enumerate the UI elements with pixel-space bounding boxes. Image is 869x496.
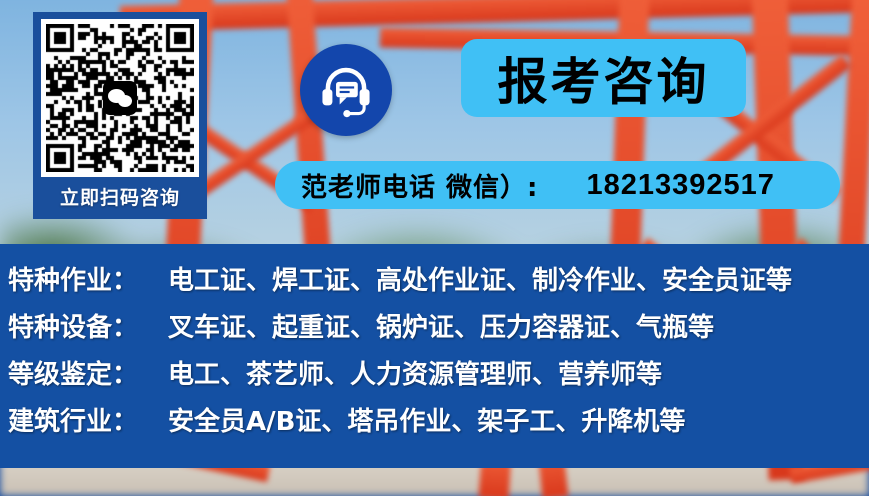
category-items: 电工证、焊工证、高处作业证、制冷作业、安全员证等 <box>168 260 792 297</box>
category-items: 电工、茶艺师、人力资源管理师、营养师等 <box>168 354 662 391</box>
course-categories-panel: 特种作业： 电工证、焊工证、高处作业证、制冷作业、安全员证等 特种设备： 叉车证… <box>0 244 869 468</box>
contact-phone-number[interactable]: 18213392517 <box>586 169 774 202</box>
category-items: 安全员A/B证、塔吊作业、架子工、升降机等 <box>168 401 685 438</box>
category-label: 建筑行业： <box>8 401 168 438</box>
qr-code-image[interactable] <box>41 19 199 177</box>
category-row: 特种设备： 叉车证、起重证、锅炉证、压力容器证、气瓶等 <box>8 307 869 354</box>
category-row: 特种作业： 电工证、焊工证、高处作业证、制冷作业、安全员证等 <box>8 260 869 307</box>
category-items: 叉车证、起重证、锅炉证、压力容器证、气瓶等 <box>168 307 714 344</box>
promo-poster: 立即扫码咨询 报考咨询 范老师电话 微信）: 18213392517 特种作业：… <box>0 0 869 496</box>
title-pill: 报考咨询 <box>461 39 746 117</box>
category-row: 建筑行业： 安全员A/B证、塔吊作业、架子工、升降机等 <box>8 401 869 448</box>
category-label: 等级鉴定： <box>8 354 168 391</box>
page-title: 报考咨询 <box>498 42 710 114</box>
qr-code-card[interactable]: 立即扫码咨询 <box>33 12 207 219</box>
category-row: 等级鉴定： 电工、茶艺师、人力资源管理师、营养师等 <box>8 354 869 401</box>
wechat-icon <box>103 81 137 115</box>
qr-caption: 立即扫码咨询 <box>60 183 180 210</box>
category-label: 特种作业： <box>8 260 168 297</box>
category-label: 特种设备： <box>8 307 168 344</box>
contact-pill[interactable]: 范老师电话 微信）: 18213392517 <box>275 161 840 209</box>
contact-label: 范老师电话 微信）: <box>301 167 538 204</box>
headset-support-icon <box>300 44 392 136</box>
